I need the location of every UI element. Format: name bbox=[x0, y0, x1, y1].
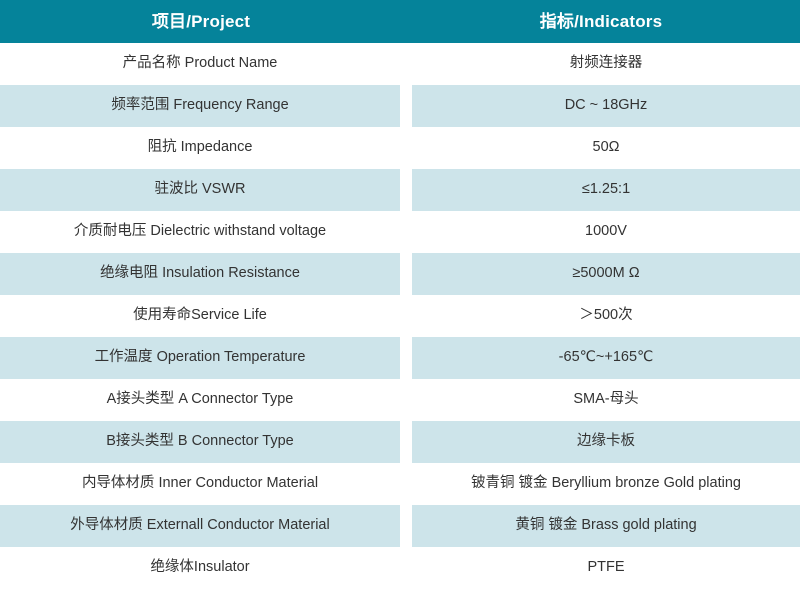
column-divider bbox=[400, 505, 412, 547]
column-divider bbox=[400, 379, 412, 421]
table-row: B接头类型 B Connector Type边缘卡板 bbox=[0, 421, 800, 463]
table-cell-indicator: ＞500次 bbox=[412, 295, 800, 337]
table-row: 内导体材质 Inner Conductor Material铍青铜 镀金 Ber… bbox=[0, 463, 800, 505]
table-body: 产品名称 Product Name射频连接器频率范围 Frequency Ran… bbox=[0, 43, 800, 589]
table-row: 使用寿命Service Life＞500次 bbox=[0, 295, 800, 337]
column-divider bbox=[400, 253, 412, 295]
table-row: 驻波比 VSWR≤1.25:1 bbox=[0, 169, 800, 211]
table-cell-indicator: DC ~ 18GHz bbox=[412, 85, 800, 127]
table-cell-project: 频率范围 Frequency Range bbox=[0, 85, 400, 127]
column-divider bbox=[400, 127, 412, 169]
table-header-cell-indicator: 指标/Indicators bbox=[402, 0, 800, 43]
table-cell-indicator: 射频连接器 bbox=[412, 43, 800, 85]
column-divider bbox=[400, 337, 412, 379]
table-row: 外导体材质 Externall Conductor Material黄铜 镀金 … bbox=[0, 505, 800, 547]
table-cell-project: 内导体材质 Inner Conductor Material bbox=[0, 463, 400, 505]
table-row: 绝缘体InsulatorPTFE bbox=[0, 547, 800, 589]
table-cell-indicator: 1000V bbox=[412, 211, 800, 253]
table-cell-indicator: 铍青铜 镀金 Beryllium bronze Gold plating bbox=[412, 463, 800, 505]
table-row: 频率范围 Frequency RangeDC ~ 18GHz bbox=[0, 85, 800, 127]
table-cell-project: 外导体材质 Externall Conductor Material bbox=[0, 505, 400, 547]
table-row: 工作温度 Operation Temperature-65℃~+165℃ bbox=[0, 337, 800, 379]
column-divider bbox=[400, 43, 412, 85]
rf-connector-specification-table: 项目/Project 指标/Indicators 产品名称 Product Na… bbox=[0, 0, 800, 588]
column-divider bbox=[400, 211, 412, 253]
column-divider bbox=[400, 295, 412, 337]
table-cell-project: 驻波比 VSWR bbox=[0, 169, 400, 211]
table-row: 阻抗 Impedance50Ω bbox=[0, 127, 800, 169]
table-cell-project: 产品名称 Product Name bbox=[0, 43, 400, 85]
table-cell-project: 工作温度 Operation Temperature bbox=[0, 337, 400, 379]
table-row: 产品名称 Product Name射频连接器 bbox=[0, 43, 800, 85]
table-cell-indicator: ≤1.25:1 bbox=[412, 169, 800, 211]
table-cell-project: 绝缘体Insulator bbox=[0, 547, 400, 589]
column-divider bbox=[400, 85, 412, 127]
table-cell-project: 阻抗 Impedance bbox=[0, 127, 400, 169]
table-cell-project: A接头类型 A Connector Type bbox=[0, 379, 400, 421]
table-header-cell-project: 项目/Project bbox=[0, 0, 402, 43]
column-divider bbox=[400, 547, 412, 589]
table-cell-indicator: 边缘卡板 bbox=[412, 421, 800, 463]
table-cell-indicator: -65℃~+165℃ bbox=[412, 337, 800, 379]
table-cell-indicator: 50Ω bbox=[412, 127, 800, 169]
table-cell-project: 介质耐电压 Dielectric withstand voltage bbox=[0, 211, 400, 253]
column-divider bbox=[400, 169, 412, 211]
table-cell-indicator: 黄铜 镀金 Brass gold plating bbox=[412, 505, 800, 547]
table-cell-project: B接头类型 B Connector Type bbox=[0, 421, 400, 463]
column-divider bbox=[400, 463, 412, 505]
table-header-row: 项目/Project 指标/Indicators bbox=[0, 0, 800, 43]
table-row: 介质耐电压 Dielectric withstand voltage1000V bbox=[0, 211, 800, 253]
table-cell-project: 绝缘电阻 Insulation Resistance bbox=[0, 253, 400, 295]
table-row: 绝缘电阻 Insulation Resistance≥5000M Ω bbox=[0, 253, 800, 295]
table-cell-project: 使用寿命Service Life bbox=[0, 295, 400, 337]
table-cell-indicator: PTFE bbox=[412, 547, 800, 589]
column-divider bbox=[400, 421, 412, 463]
table-row: A接头类型 A Connector TypeSMA-母头 bbox=[0, 379, 800, 421]
table-cell-indicator: ≥5000M Ω bbox=[412, 253, 800, 295]
table-cell-indicator: SMA-母头 bbox=[412, 379, 800, 421]
